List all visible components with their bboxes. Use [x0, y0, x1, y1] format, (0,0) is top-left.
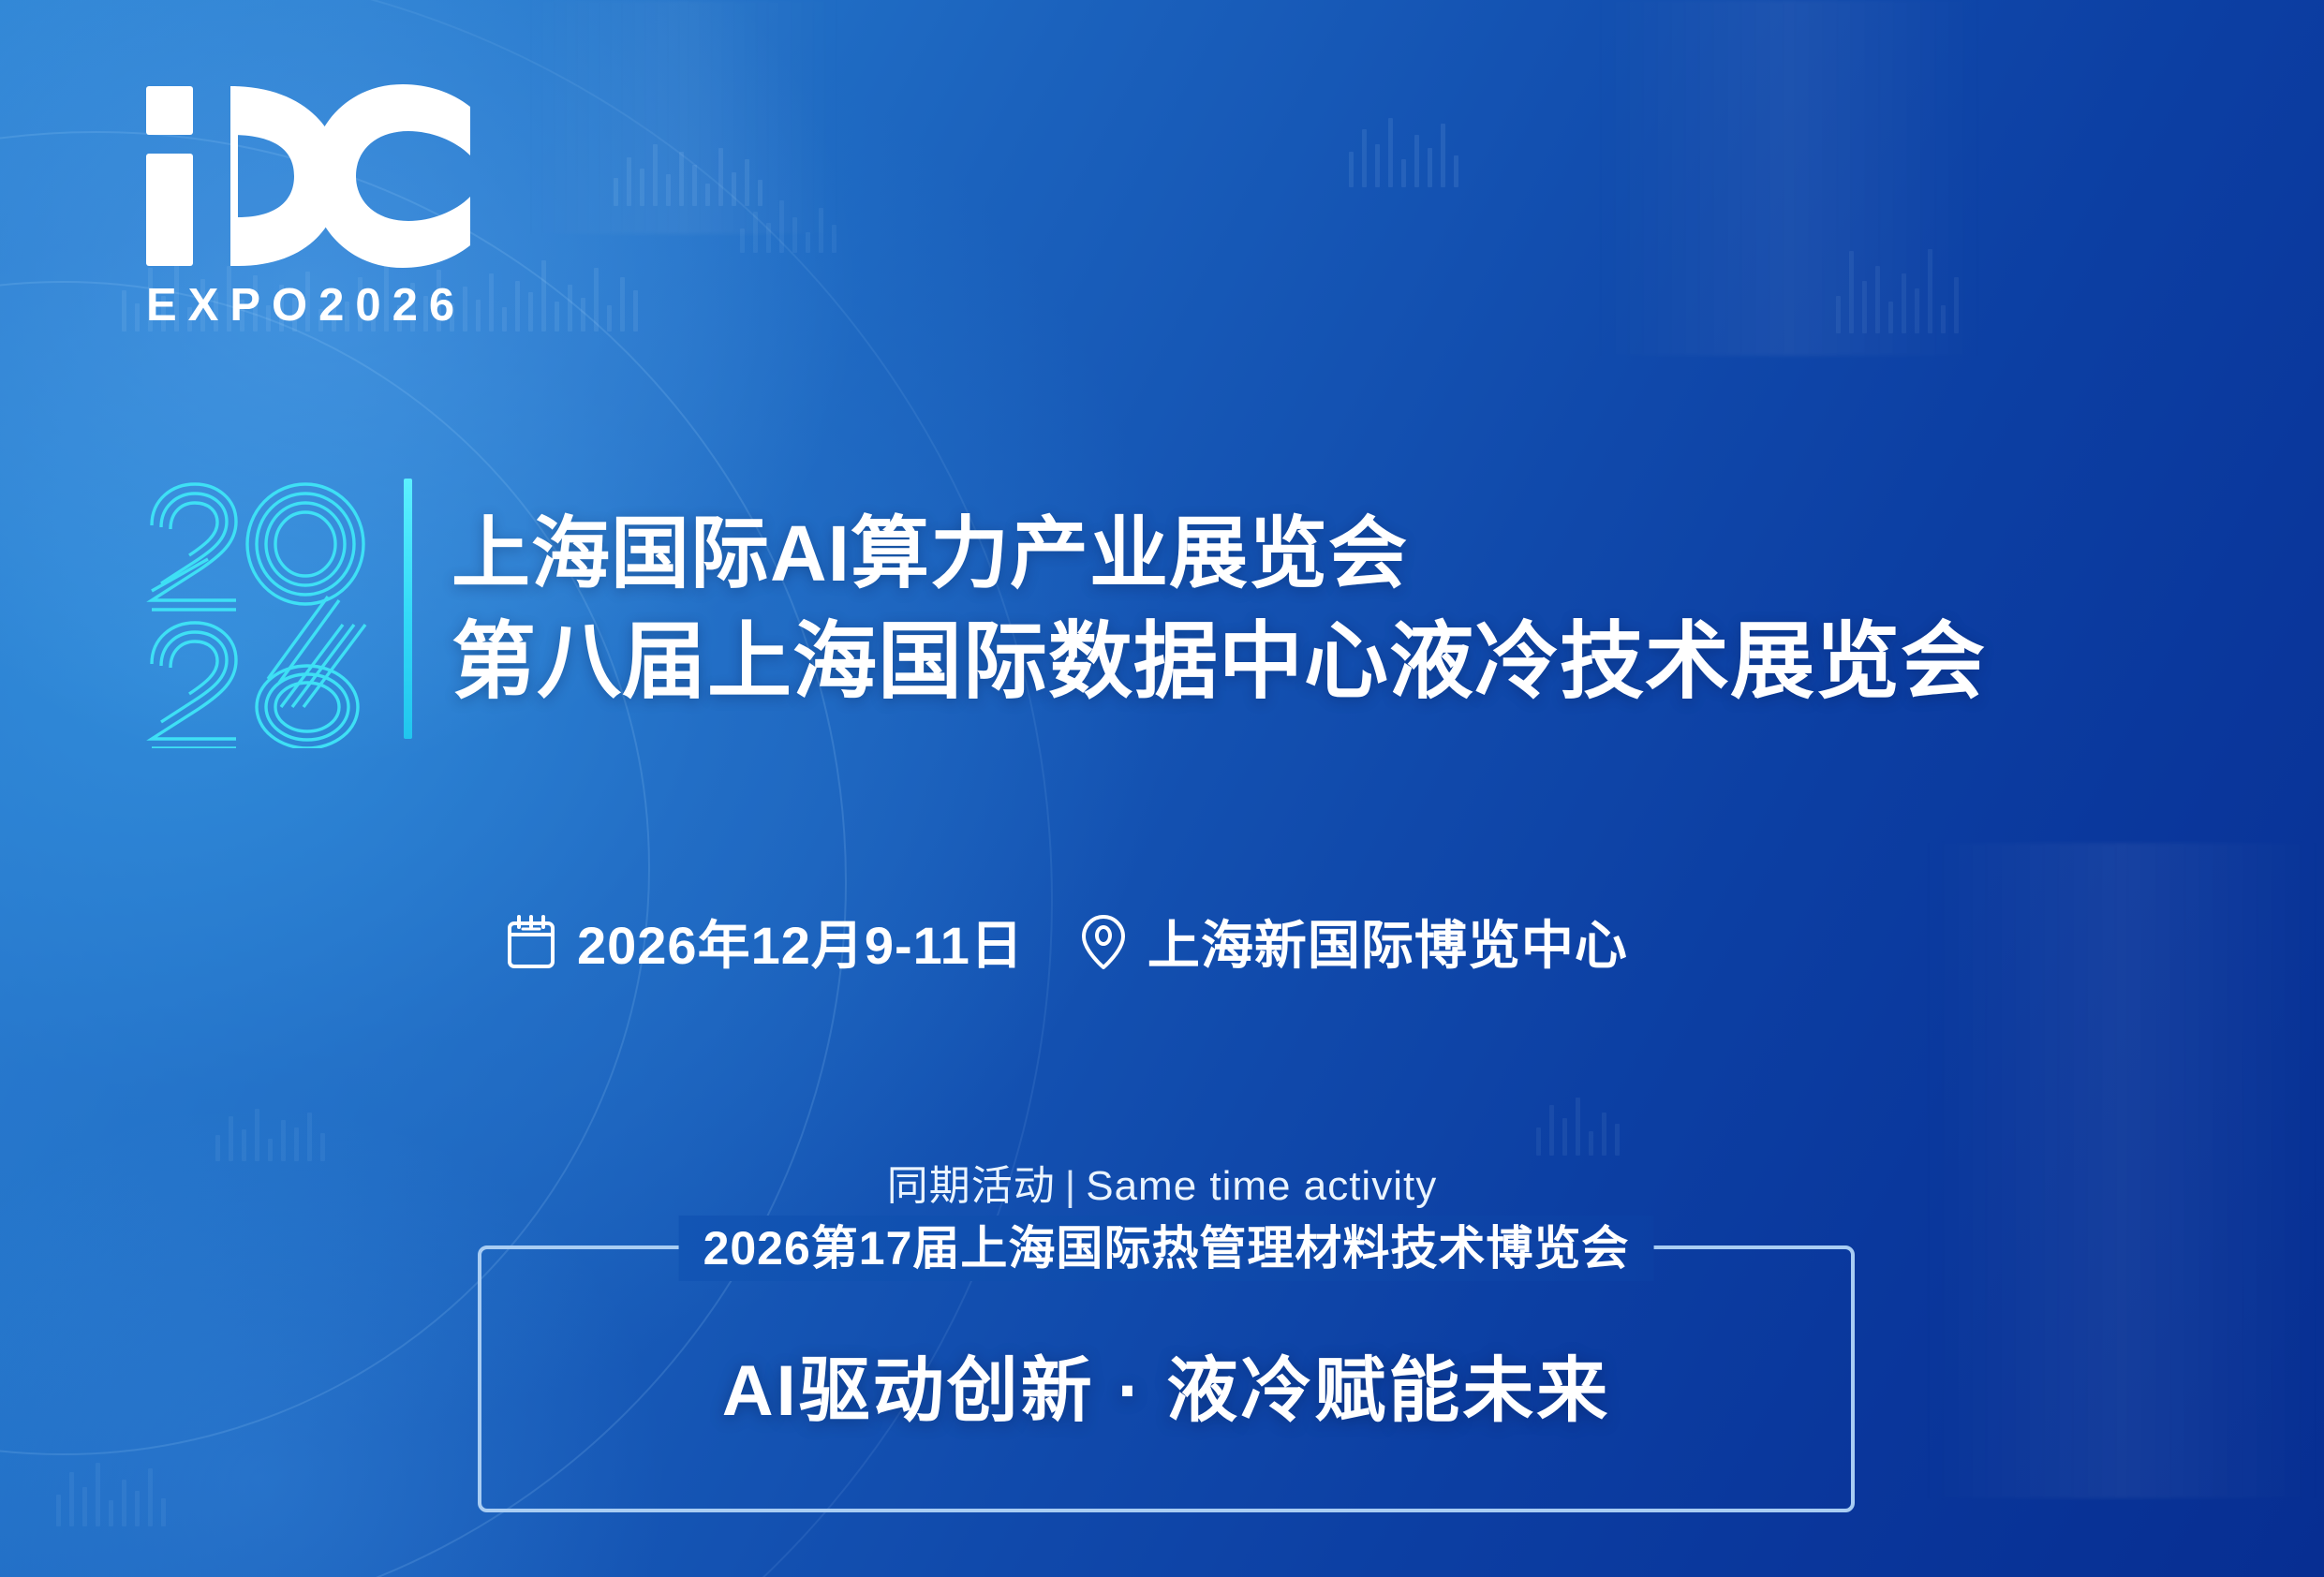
event-venue-text: 上海新国际博览中心 — [1147, 904, 1628, 980]
texture-bars-h — [56, 1461, 166, 1526]
idc-monogram-logo — [141, 73, 478, 270]
logo-wordmark: EXPO2026 — [146, 283, 534, 329]
calendar-icon — [506, 914, 556, 970]
promotional-banner: EXPO2026 — [0, 0, 2324, 1577]
same-time-label-en: Same time activity — [1086, 1163, 1437, 1209]
headline-block: 上海国际AI算力产业展览会 第八届上海国际数据中心液冷技术展览会 — [141, 473, 1986, 748]
texture-bars-b — [740, 197, 836, 253]
event-date-text: 2026年12月9-11日 — [577, 904, 1024, 980]
sub-expo-slogan: AI驱动创新 · 液冷赋能未来 — [481, 1333, 1851, 1436]
event-meta: 2026年12月9-11日 上海新国际博览中心 — [506, 904, 1628, 980]
texture-bars-c — [1349, 112, 1458, 187]
year-2026-decoration — [141, 477, 370, 748]
brand-logo: EXPO2026 — [141, 73, 534, 329]
same-time-label-cn: 同期活动 — [887, 1163, 1056, 1209]
sub-expo-title: 2026第17届上海国际热管理材料技术博览会 — [679, 1216, 1654, 1281]
same-time-separator: | — [1056, 1163, 1086, 1209]
event-date: 2026年12月9-11日 — [506, 904, 1024, 980]
same-time-activity: 同期活动|Same time activity — [0, 1152, 2324, 1212]
texture-bars-g — [1536, 1096, 1620, 1156]
headline-divider — [404, 479, 412, 739]
light-streak-1 — [525, 0, 843, 234]
texture-bars-d — [1836, 243, 1959, 333]
sub-expo-frame: 2026第17届上海国际热管理材料技术博览会 AI驱动创新 · 液冷赋能未来 — [478, 1245, 1855, 1512]
event-venue: 上海新国际博览中心 — [1080, 904, 1628, 980]
headline-line-2: 第八届上海国际数据中心液冷技术展览会 — [451, 610, 1986, 715]
light-streak-2 — [1592, 0, 1986, 356]
headline-line-1: 上海国际AI算力产业展览会 — [451, 505, 1986, 604]
location-pin-icon — [1080, 912, 1127, 972]
texture-bars-a — [614, 140, 762, 206]
